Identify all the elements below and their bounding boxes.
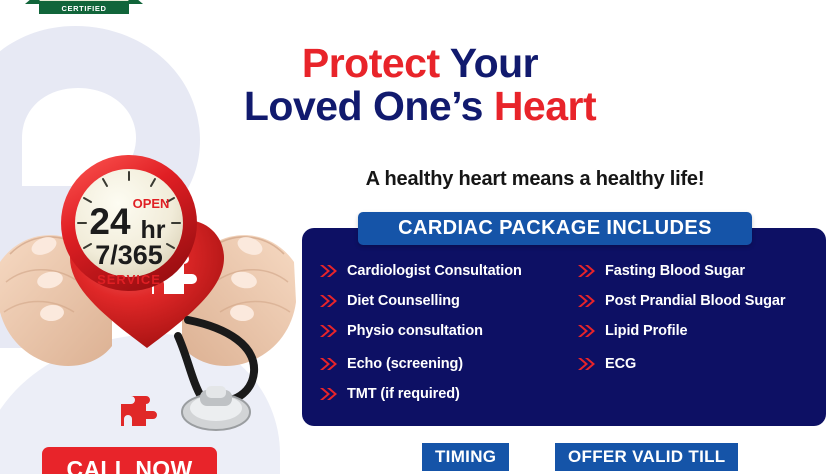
cardiac-package-header-banner: CARDIAC PACKAGE INCLUDES: [358, 212, 752, 245]
list-item-label: Diet Counselling: [347, 293, 460, 309]
list-item-label: Lipid Profile: [605, 323, 687, 339]
call-now-label: CALL NOW: [67, 456, 193, 474]
red-arrow-bullet-icon: [320, 387, 338, 401]
list-item-label: Fasting Blood Sugar: [605, 263, 745, 279]
clock-hours-text: 24: [89, 201, 131, 242]
list-item: Echo (screening): [320, 349, 578, 379]
list-item-label: TMT (if required): [347, 386, 460, 402]
list-item: ECG: [578, 349, 826, 379]
list-item: TMT (if required): [320, 379, 578, 409]
offer-valid-till-badge: OFFER VALID TILL: [555, 443, 738, 471]
headline-loved-ones: Loved One’s: [244, 83, 483, 129]
subheading-tagline: A healthy heart means a healthy life!: [300, 168, 770, 191]
list-item-label: Physio consultation: [347, 323, 483, 339]
list-item-label: ECG: [605, 356, 636, 372]
red-arrow-bullet-icon: [320, 264, 338, 278]
red-arrow-bullet-icon: [320, 294, 338, 308]
timing-badge: TIMING: [422, 443, 509, 471]
clock-days-text: 7/365: [95, 240, 163, 270]
red-arrow-bullet-icon: [320, 357, 338, 371]
red-arrow-bullet-icon: [578, 357, 596, 371]
red-arrow-bullet-icon: [578, 264, 596, 278]
headline-protect: Protect: [302, 40, 440, 86]
red-arrow-bullet-icon: [578, 324, 596, 338]
headline-line-2: Loved One’s Heart: [210, 85, 630, 128]
list-item: Diet Counselling: [320, 286, 578, 316]
list-item: Cardiologist Consultation: [320, 256, 578, 286]
list-item: Fasting Blood Sugar: [578, 256, 826, 286]
headline-heart: Heart: [494, 83, 596, 129]
cardiac-package-poster: CERTIFIED NABH ENTRY LEVEL PATIENT HEALT…: [0, 0, 840, 474]
red-arrow-bullet-icon: [320, 324, 338, 338]
clock-service-text: SERVICE: [97, 272, 161, 287]
call-now-button[interactable]: CALL NOW: [42, 447, 217, 474]
timing-label: TIMING: [435, 447, 496, 467]
list-item: Physio consultation: [320, 316, 578, 346]
package-column-left: Cardiologist Consultation Diet Counselli…: [320, 256, 578, 426]
red-arrow-bullet-icon: [578, 294, 596, 308]
offer-valid-till-label: OFFER VALID TILL: [568, 447, 725, 467]
svg-text:CERTIFIED: CERTIFIED: [62, 4, 107, 13]
list-item: Post Prandial Blood Sugar: [578, 286, 826, 316]
headline-line-1: Protect Your: [210, 42, 630, 85]
cardiac-package-items: Cardiologist Consultation Diet Counselli…: [302, 256, 826, 426]
list-item-label: Echo (screening): [347, 356, 463, 372]
package-column-right: Fasting Blood Sugar Post Prandial Blood …: [578, 256, 826, 426]
list-item-label: Post Prandial Blood Sugar: [605, 293, 785, 309]
headline-your: Your: [450, 40, 538, 86]
clock-open-text: OPEN: [133, 196, 170, 211]
24hr-service-clock-icon: 24 OPEN hr 7/365 SERVICE: [58, 152, 200, 294]
page-headline: Protect Your Loved One’s Heart: [210, 42, 630, 129]
cardiac-package-header-text: CARDIAC PACKAGE INCLUDES: [398, 217, 712, 240]
list-item: Lipid Profile: [578, 316, 826, 346]
nabh-certified-badge-icon: CERTIFIED NABH ENTRY LEVEL PATIENT HEALT…: [25, 0, 143, 18]
list-item-label: Cardiologist Consultation: [347, 263, 522, 279]
